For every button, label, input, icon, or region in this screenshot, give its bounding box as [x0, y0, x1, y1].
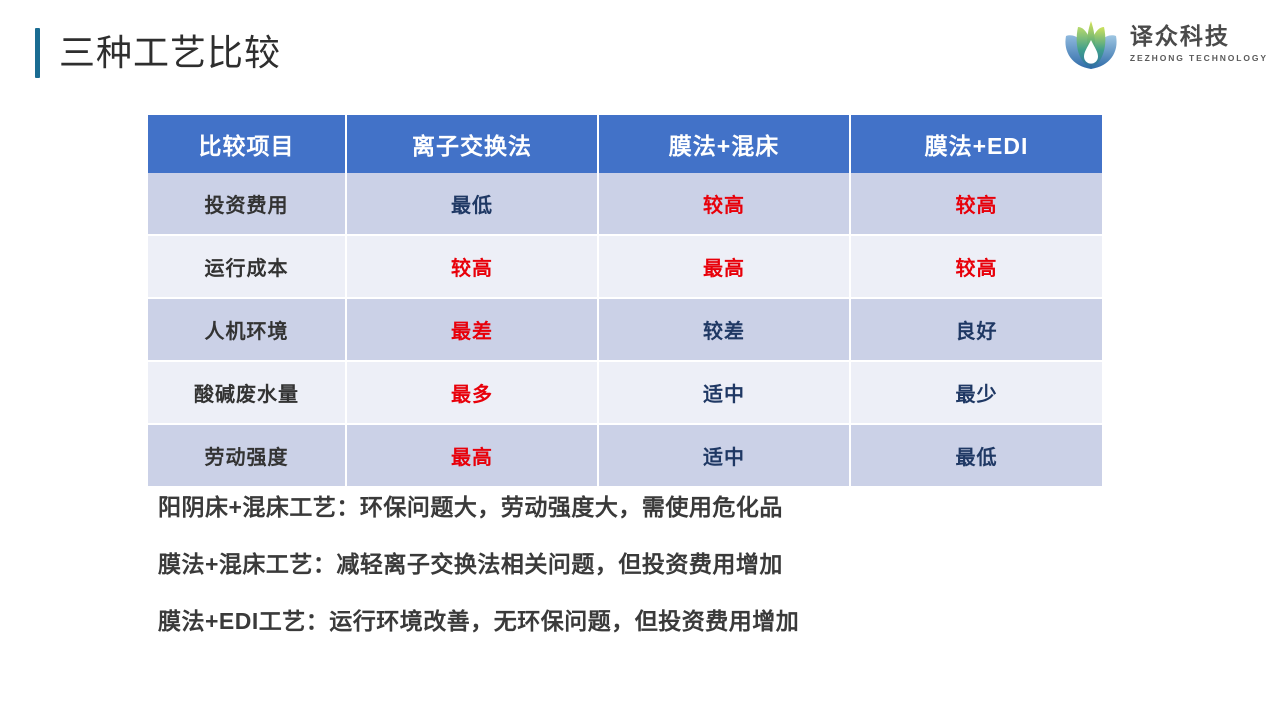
page-title-text: 三种工艺比较: [59, 31, 281, 75]
logo-name-cn: 译众科技: [1130, 23, 1268, 50]
note-line: 膜法+EDI工艺：运行环境改善，无环保问题，但投资费用增加: [158, 606, 1118, 636]
table-row: 劳动强度 最高 适中 最低: [148, 424, 1102, 486]
row-cell: 较高: [850, 235, 1102, 298]
table-row: 投资费用 最低 较高 较高: [148, 173, 1102, 235]
row-cell: 适中: [598, 361, 850, 424]
row-cell: 良好: [850, 298, 1102, 361]
table-row: 运行成本 较高 最高 较高: [148, 235, 1102, 298]
row-cell: 较差: [598, 298, 850, 361]
table-row: 人机环境 最差 较差 良好: [148, 298, 1102, 361]
row-cell: 较高: [346, 235, 598, 298]
row-label: 运行成本: [148, 235, 346, 298]
row-cell: 适中: [598, 424, 850, 486]
logo-text-block: 译众科技 ZEZHONG TECHNOLOGY: [1130, 23, 1268, 64]
row-label: 酸碱废水量: [148, 361, 346, 424]
row-cell: 最高: [346, 424, 598, 486]
column-header-ion-exchange: 离子交换法: [346, 115, 598, 173]
summary-notes: 阳阴床+混床工艺：环保问题大，劳动强度大，需使用危化品 膜法+混床工艺：减轻离子…: [158, 492, 1118, 636]
lotus-waterdrop-icon: [1060, 14, 1122, 72]
row-label: 投资费用: [148, 173, 346, 235]
note-line: 阳阴床+混床工艺：环保问题大，劳动强度大，需使用危化品: [158, 492, 1118, 522]
row-cell: 最低: [346, 173, 598, 235]
row-cell: 最低: [850, 424, 1102, 486]
comparison-table: 比较项目 离子交换法 膜法+混床 膜法+EDI 投资费用 最低 较高 较高 运行…: [148, 115, 1102, 486]
row-cell: 最少: [850, 361, 1102, 424]
column-header-membrane-mixedbed: 膜法+混床: [598, 115, 850, 173]
row-cell: 最高: [598, 235, 850, 298]
page-title: 三种工艺比较: [35, 25, 281, 81]
slide-root: 三种工艺比较: [0, 0, 1280, 720]
column-header-membrane-edi: 膜法+EDI: [850, 115, 1102, 173]
row-label: 劳动强度: [148, 424, 346, 486]
logo-name-en: ZEZHONG TECHNOLOGY: [1130, 52, 1268, 64]
company-logo: 译众科技 ZEZHONG TECHNOLOGY: [1060, 11, 1268, 75]
row-label: 人机环境: [148, 298, 346, 361]
table-row: 酸碱废水量 最多 适中 最少: [148, 361, 1102, 424]
row-cell: 较高: [850, 173, 1102, 235]
title-accent-bar: [35, 28, 40, 78]
note-line: 膜法+混床工艺：减轻离子交换法相关问题，但投资费用增加: [158, 549, 1118, 579]
column-header-item: 比较项目: [148, 115, 346, 173]
table-header-row: 比较项目 离子交换法 膜法+混床 膜法+EDI: [148, 115, 1102, 173]
comparison-table-wrapper: 比较项目 离子交换法 膜法+混床 膜法+EDI 投资费用 最低 较高 较高 运行…: [148, 115, 1102, 486]
row-cell: 最差: [346, 298, 598, 361]
row-cell: 较高: [598, 173, 850, 235]
row-cell: 最多: [346, 361, 598, 424]
